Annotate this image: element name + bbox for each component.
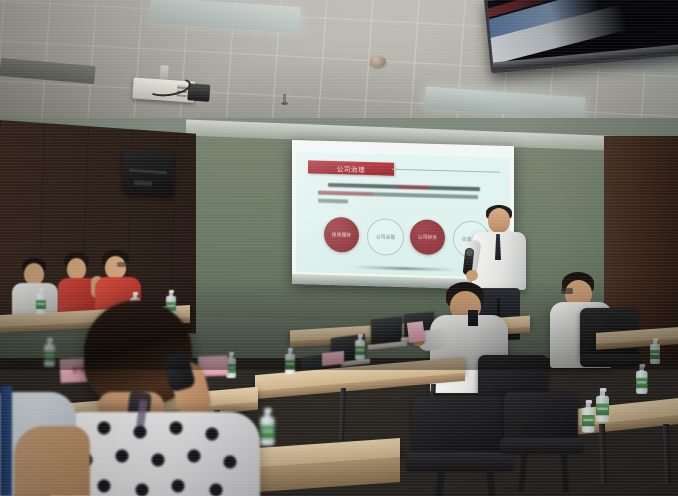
slide-circle-3: 公司财务 <box>410 219 445 255</box>
slide-title-text: 公司治理 <box>337 163 365 174</box>
slide-text-line <box>328 183 480 191</box>
slide-circle-label: 投资理财 <box>332 232 351 239</box>
slide-text-line <box>318 199 348 204</box>
slide-circle-label: 公司财务 <box>418 234 437 241</box>
arm <box>14 426 90 496</box>
slide-title-banner: 公司治理 <box>308 160 394 175</box>
office-chair[interactable] <box>504 392 614 492</box>
left-edge-figure <box>0 386 12 496</box>
glasses-icon <box>117 262 129 267</box>
table-leg <box>663 424 671 484</box>
conference-room-photo: 公司治理 投资理财 公司治理 公司财务 信息披露 <box>0 0 678 496</box>
head <box>105 256 126 279</box>
head <box>67 258 86 280</box>
slide-title-rule <box>392 169 500 173</box>
table-leg <box>339 388 346 440</box>
slide-top-margin <box>296 146 510 158</box>
room-shadow <box>0 280 678 370</box>
slide-text-line <box>318 191 478 199</box>
wall-speaker <box>123 148 173 195</box>
slide-circle-label: 公司治理 <box>376 234 395 241</box>
slide-circle-2: 公司治理 <box>367 218 404 256</box>
attendee-bottom-left <box>0 392 90 496</box>
slide-circle-1: 投资理财 <box>324 217 359 253</box>
slide-footer-text <box>352 266 456 272</box>
head <box>488 208 510 233</box>
ceiling-projector <box>132 73 208 104</box>
